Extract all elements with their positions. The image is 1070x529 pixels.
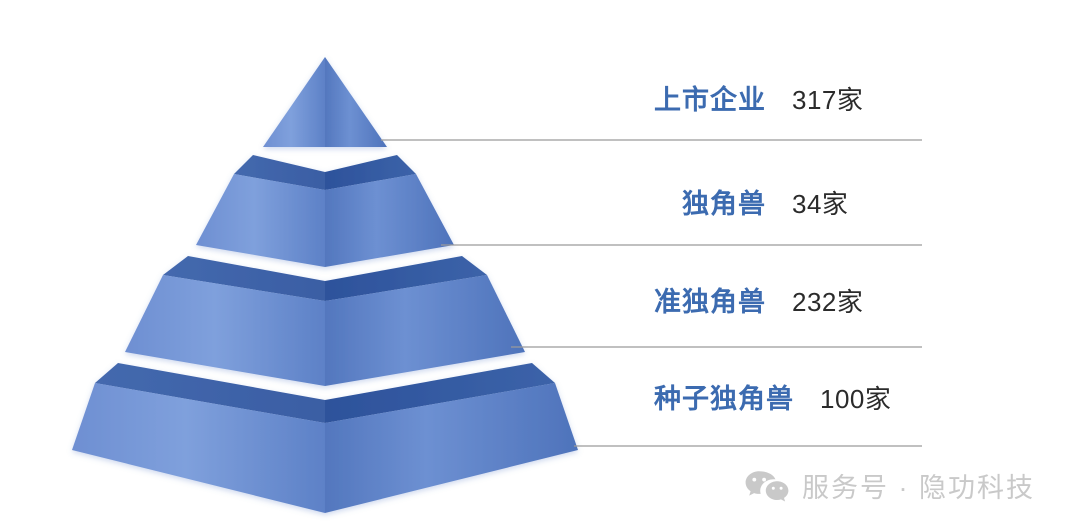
tier-1-face-left [263,57,325,147]
tier-value-2: 34家 [792,184,848,221]
footer-text: 服务号 · 隐功科技 [802,466,1035,505]
tier-2-face-right [325,174,454,267]
tier-2-face-left [196,174,325,267]
tier-value-3: 232家 [792,282,863,319]
pyramid-diagram [0,0,1070,529]
tier-legend-row-2[interactable]: 独角兽 34家 [682,182,848,221]
tier-label-3: 准独角兽 [654,280,766,319]
tier-label-1: 上市企业 [654,78,766,117]
pyramid-tier-3[interactable] [125,256,525,386]
tier-legend-row-1[interactable]: 上市企业 317家 [654,78,863,117]
infographic-canvas: 上市企业 317家 独角兽 34家 准独角兽 232家 种子独角兽 100家 服… [0,0,1070,529]
tier-label-4: 种子独角兽 [654,377,794,416]
pyramid-tier-2[interactable] [196,155,454,267]
tier-value-4: 100家 [820,379,891,416]
tier-value-1: 317家 [792,80,863,117]
footer-branding: 服务号 · 隐功科技 [744,466,1035,505]
wechat-icon [744,469,790,503]
tier-1-face-right [325,57,387,147]
tier-legend-row-3[interactable]: 准独角兽 232家 [654,280,863,319]
tier-legend-row-4[interactable]: 种子独角兽 100家 [654,377,891,416]
pyramid-tier-1[interactable] [263,57,387,147]
tier-label-2: 独角兽 [682,182,766,221]
